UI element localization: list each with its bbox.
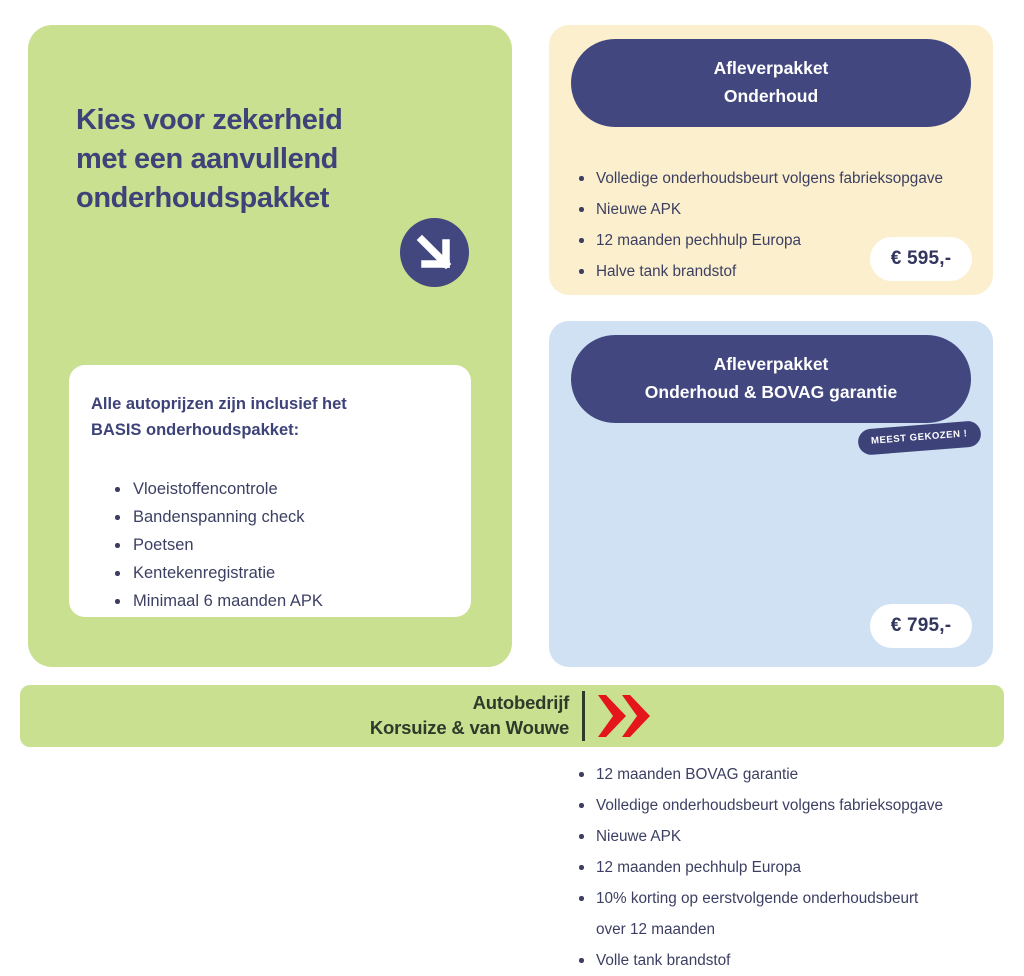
price-badge-onderhoud: € 595,-: [870, 237, 972, 281]
footer-bar: Autobedrijf Korsuize & van Wouwe: [20, 685, 1004, 747]
list-item: Volle tank brandstof: [575, 945, 979, 976]
promo-page: Kies voor zekerheid met een aanvullend o…: [0, 0, 1024, 768]
package-header-onderhoud-bovag: Afleverpakket Onderhoud & BOVAG garantie: [571, 335, 971, 423]
package-header-line-2: Onderhoud & BOVAG garantie: [585, 378, 957, 406]
list-item: Minimaal 6 maanden APK: [113, 587, 443, 615]
package-card-onderhoud[interactable]: Afleverpakket Onderhoud Volledige onderh…: [549, 25, 993, 295]
double-chevron-right-icon: [596, 693, 654, 739]
status-badge: MEEST GEKOZEN !: [857, 420, 981, 456]
list-item: Nieuwe APK: [575, 194, 979, 225]
package-card-onderhoud-bovag[interactable]: Afleverpakket Onderhoud & BOVAG garantie…: [549, 321, 993, 667]
list-item: Nieuwe APK: [575, 821, 979, 852]
package-header-onderhoud: Afleverpakket Onderhoud: [571, 39, 971, 127]
package-header-line-1: Afleverpakket: [585, 54, 957, 82]
intro-panel: Kies voor zekerheid met een aanvullend o…: [28, 25, 512, 667]
list-item: 10% korting op eerstvolgende onderhoudsb…: [575, 883, 979, 945]
list-item: Bandenspanning check: [113, 503, 443, 531]
list-item-text: 10% korting op eerstvolgende onderhoudsb…: [596, 890, 918, 907]
package-feature-list-onderhoud-bovag: 12 maanden BOVAG garantie Volledige onde…: [575, 759, 979, 976]
basis-title-line-2: BASIS onderhoudspakket:: [91, 417, 421, 443]
basis-package-list: Vloeistoffencontrole Bandenspanning chec…: [113, 475, 443, 615]
basis-package-card: Alle autoprijzen zijn inclusief het BASI…: [69, 365, 471, 617]
company-logo: Autobedrijf Korsuize & van Wouwe: [20, 685, 1004, 747]
list-item-text-continued: over 12 maanden: [596, 914, 979, 945]
list-item: Poetsen: [113, 531, 443, 559]
basis-package-title: Alle autoprijzen zijn inclusief het BASI…: [91, 391, 421, 443]
company-name-line-1: Autobedrijf: [370, 691, 569, 716]
package-header-line-1: Afleverpakket: [585, 350, 957, 378]
list-item: 12 maanden BOVAG garantie: [575, 759, 979, 790]
list-item: Vloeistoffencontrole: [113, 475, 443, 503]
price-badge-onderhoud-bovag: € 795,-: [870, 604, 972, 648]
company-name: Autobedrijf Korsuize & van Wouwe: [370, 691, 582, 741]
basis-title-line-1: Alle autoprijzen zijn inclusief het: [91, 391, 421, 417]
list-item: Volledige onderhoudsbeurt volgens fabrie…: [575, 790, 979, 821]
list-item: Volledige onderhoudsbeurt volgens fabrie…: [575, 163, 979, 194]
company-name-line-2: Korsuize & van Wouwe: [370, 716, 569, 741]
headline-line-3: onderhoudspakket: [76, 179, 446, 218]
headline-line-1: Kies voor zekerheid: [76, 101, 446, 140]
logo-divider: [582, 691, 585, 741]
page-title: Kies voor zekerheid met een aanvullend o…: [76, 101, 446, 218]
headline-line-2: met een aanvullend: [76, 140, 446, 179]
package-header-line-2: Onderhoud: [585, 82, 957, 110]
list-item: Kentekenregistratie: [113, 559, 443, 587]
arrow-down-right-icon: [400, 218, 469, 287]
list-item: 12 maanden pechhulp Europa: [575, 852, 979, 883]
